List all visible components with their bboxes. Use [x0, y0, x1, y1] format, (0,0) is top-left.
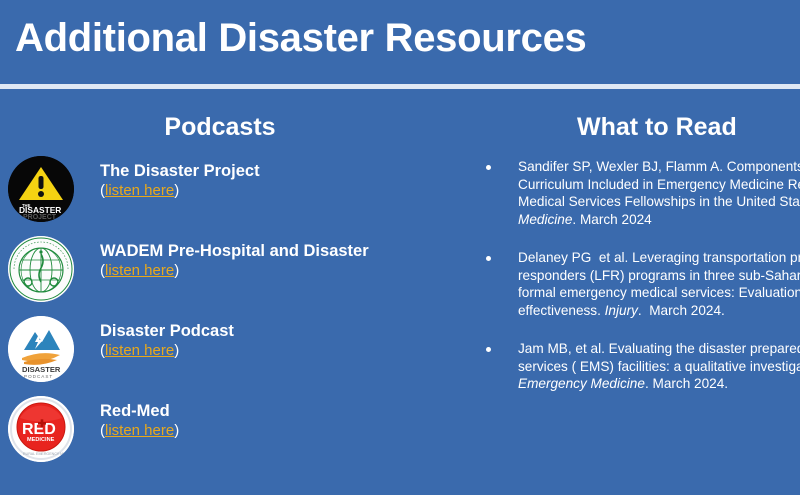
citation: Sandifer SP, Wexler BJ, Flamm A. Compone…	[518, 158, 800, 228]
paren-close: )	[174, 422, 179, 439]
podcast-text-block: Disaster Podcast (listen here)	[100, 321, 234, 361]
mountain-lightning-icon: DISASTER PODCAST	[8, 316, 74, 382]
listen-here-link[interactable]: listen here	[105, 342, 174, 359]
bullet-icon	[486, 165, 491, 170]
list-item: Jam MB, et al. Evaluating the disaster p…	[474, 340, 800, 393]
list-item: THE DISASTER PROJECT The Disaster Projec…	[0, 156, 440, 236]
paren-close: )	[174, 342, 179, 359]
globe-caduceus-icon	[8, 236, 74, 302]
citation-text-after: . March 2024.	[638, 303, 725, 318]
citation-text-before: Jam MB, et al. Evaluating the disaster p…	[518, 341, 800, 374]
wadem-logo	[8, 236, 74, 302]
citation-journal: Injury	[605, 303, 638, 318]
svg-text:PROJECT: PROJECT	[23, 214, 57, 221]
bullet-icon	[486, 347, 491, 352]
header-divider	[0, 84, 800, 89]
reading-column: What to Read Sandifer SP, Wexler BJ, Fla…	[452, 96, 800, 495]
red-med-logo: RED MEDICINE RURAL EMERGENCY MEDICINE	[8, 396, 74, 462]
svg-text:RURAL EMERGENCY MEDICINE: RURAL EMERGENCY MEDICINE	[23, 452, 74, 456]
podcast-name: Red-Med	[100, 401, 179, 421]
podcast-list: THE DISASTER PROJECT The Disaster Projec…	[0, 156, 440, 476]
podcasts-column: Podcasts THE DISASTER PROJECT	[0, 96, 440, 495]
svg-text:DISASTER: DISASTER	[22, 365, 61, 374]
citation: Jam MB, et al. Evaluating the disaster p…	[518, 340, 800, 393]
page-title: Additional Disaster Resources	[15, 16, 586, 61]
podcast-name: WADEM Pre-Hospital and Disaster	[100, 241, 369, 261]
podcast-link-line: (listen here)	[100, 421, 179, 441]
list-item: Sandifer SP, Wexler BJ, Flamm A. Compone…	[474, 158, 800, 228]
podcast-text-block: Red-Med (listen here)	[100, 401, 179, 441]
slide-root: Additional Disaster Resources Podcasts T…	[0, 0, 800, 495]
list-item: DISASTER PODCAST Disaster Podcast (liste…	[0, 316, 440, 396]
svg-text:MEDICINE: MEDICINE	[27, 437, 55, 443]
disaster-podcast-logo: DISASTER PODCAST	[8, 316, 74, 382]
svg-text:PODCAST: PODCAST	[24, 374, 53, 379]
podcast-name: Disaster Podcast	[100, 321, 234, 341]
list-item: RED MEDICINE RURAL EMERGENCY MEDICINE Re…	[0, 396, 440, 476]
bullet-icon	[486, 256, 491, 261]
podcast-name: The Disaster Project	[100, 161, 260, 181]
listen-here-link[interactable]: listen here	[105, 262, 174, 279]
citation-text-after: . March 2024.	[645, 376, 728, 391]
slide-header: Additional Disaster Resources	[0, 0, 800, 84]
listen-here-link[interactable]: listen here	[105, 182, 174, 199]
podcast-link-line: (listen here)	[100, 261, 369, 281]
red-medicine-icon: RED MEDICINE RURAL EMERGENCY MEDICINE	[8, 396, 74, 462]
podcast-link-line: (listen here)	[100, 181, 260, 201]
list-item: Delaney PG et al. Leveraging transportat…	[474, 249, 800, 319]
podcast-text-block: WADEM Pre-Hospital and Disaster (listen …	[100, 241, 369, 281]
citation: Delaney PG et al. Leveraging transportat…	[518, 249, 800, 319]
reading-list: Sandifer SP, Wexler BJ, Flamm A. Compone…	[452, 158, 800, 393]
citation-text-before: Sandifer SP, Wexler BJ, Flamm A. Compone…	[518, 159, 800, 209]
podcasts-heading: Podcasts	[0, 96, 440, 142]
list-item: WADEM Pre-Hospital and Disaster (listen …	[0, 236, 440, 316]
reading-heading: What to Read	[452, 96, 800, 142]
podcast-text-block: The Disaster Project (listen here)	[100, 161, 260, 201]
listen-here-link[interactable]: listen here	[105, 422, 174, 439]
paren-close: )	[174, 262, 179, 279]
warning-triangle-icon: THE DISASTER PROJECT	[8, 156, 74, 222]
citation-text-after: . March 2024	[572, 212, 651, 227]
podcast-link-line: (listen here)	[100, 341, 234, 361]
paren-close: )	[174, 182, 179, 199]
the-disaster-project-logo: THE DISASTER PROJECT	[8, 156, 74, 222]
